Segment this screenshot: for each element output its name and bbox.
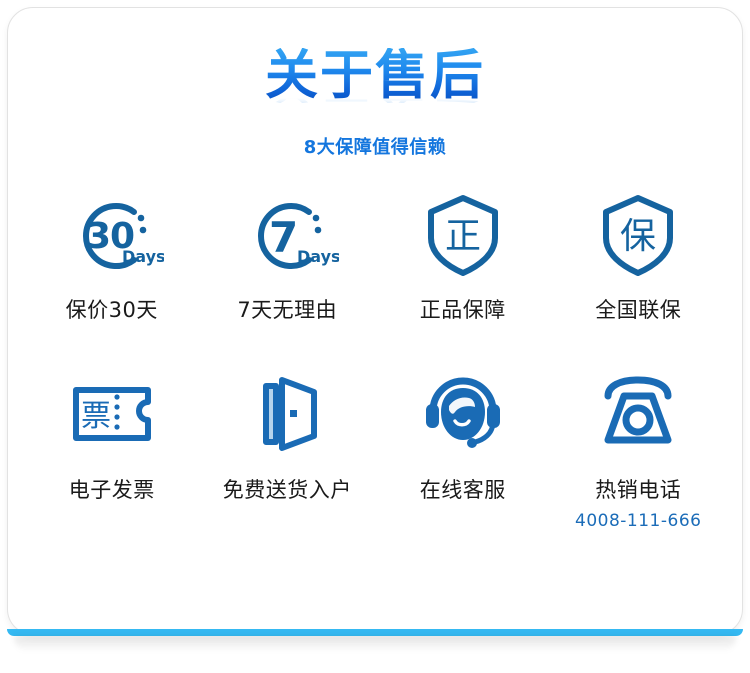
svg-text:保: 保 (620, 216, 656, 257)
electronic-invoice-ticket-icon: 票 (60, 366, 164, 462)
hotline-telephone-icon (586, 366, 690, 462)
feature-item-hotline: 热销电话 4008-111-666 (551, 366, 727, 531)
page-subtitle: 8大保障值得信赖 (0, 133, 750, 159)
after-sales-service-banner: 关于售后 关于售后 8大保障值得信赖 30 Days 保价30天 (0, 0, 750, 673)
feature-grid: 30 Days 保价30天 7 Days 7天无理由 (24, 186, 726, 531)
svg-text:Days: Days (122, 247, 164, 266)
svg-text:Days: Days (297, 247, 339, 266)
feature-label: 保价30天 (66, 294, 158, 324)
svg-text:票: 票 (81, 399, 111, 434)
title-block: 关于售后 关于售后 8大保障值得信赖 (0, 48, 750, 159)
feature-item-online-service: 在线客服 (375, 366, 551, 531)
online-customer-service-headset-icon (411, 366, 515, 462)
nationwide-warranty-shield-icon: 保 (586, 186, 690, 282)
svg-text:正: 正 (445, 216, 481, 257)
feature-item-nationwide-warranty: 保 全国联保 (551, 186, 727, 324)
feature-label: 7天无理由 (237, 294, 337, 324)
feature-item-no-reason-return: 7 Days 7天无理由 (200, 186, 376, 324)
feature-item-free-delivery: 免费送货入户 (200, 366, 376, 531)
feature-item-genuine-guarantee: 正 正品保障 (375, 186, 551, 324)
feature-label: 正品保障 (420, 294, 506, 324)
page-title: 关于售后 (0, 48, 750, 103)
free-door-delivery-icon (235, 366, 339, 462)
card-bottom-accent-bar (7, 629, 743, 636)
feature-label: 在线客服 (420, 474, 506, 504)
feature-label: 电子发票 (69, 474, 155, 504)
7-days-no-reason-return-icon: 7 Days (235, 186, 339, 282)
feature-label: 全国联保 (595, 294, 681, 324)
svg-text:7: 7 (269, 213, 298, 262)
feature-item-price-protection: 30 Days 保价30天 (24, 186, 200, 324)
feature-sublabel: 4008-111-666 (575, 511, 701, 531)
30-days-price-protection-icon: 30 Days (60, 186, 164, 282)
feature-label: 免费送货入户 (223, 474, 352, 504)
card-drop-shadow (14, 636, 736, 652)
genuine-shield-icon: 正 (411, 186, 515, 282)
feature-label: 热销电话 (595, 474, 681, 504)
feature-item-electronic-invoice: 票 电子发票 (24, 366, 200, 531)
